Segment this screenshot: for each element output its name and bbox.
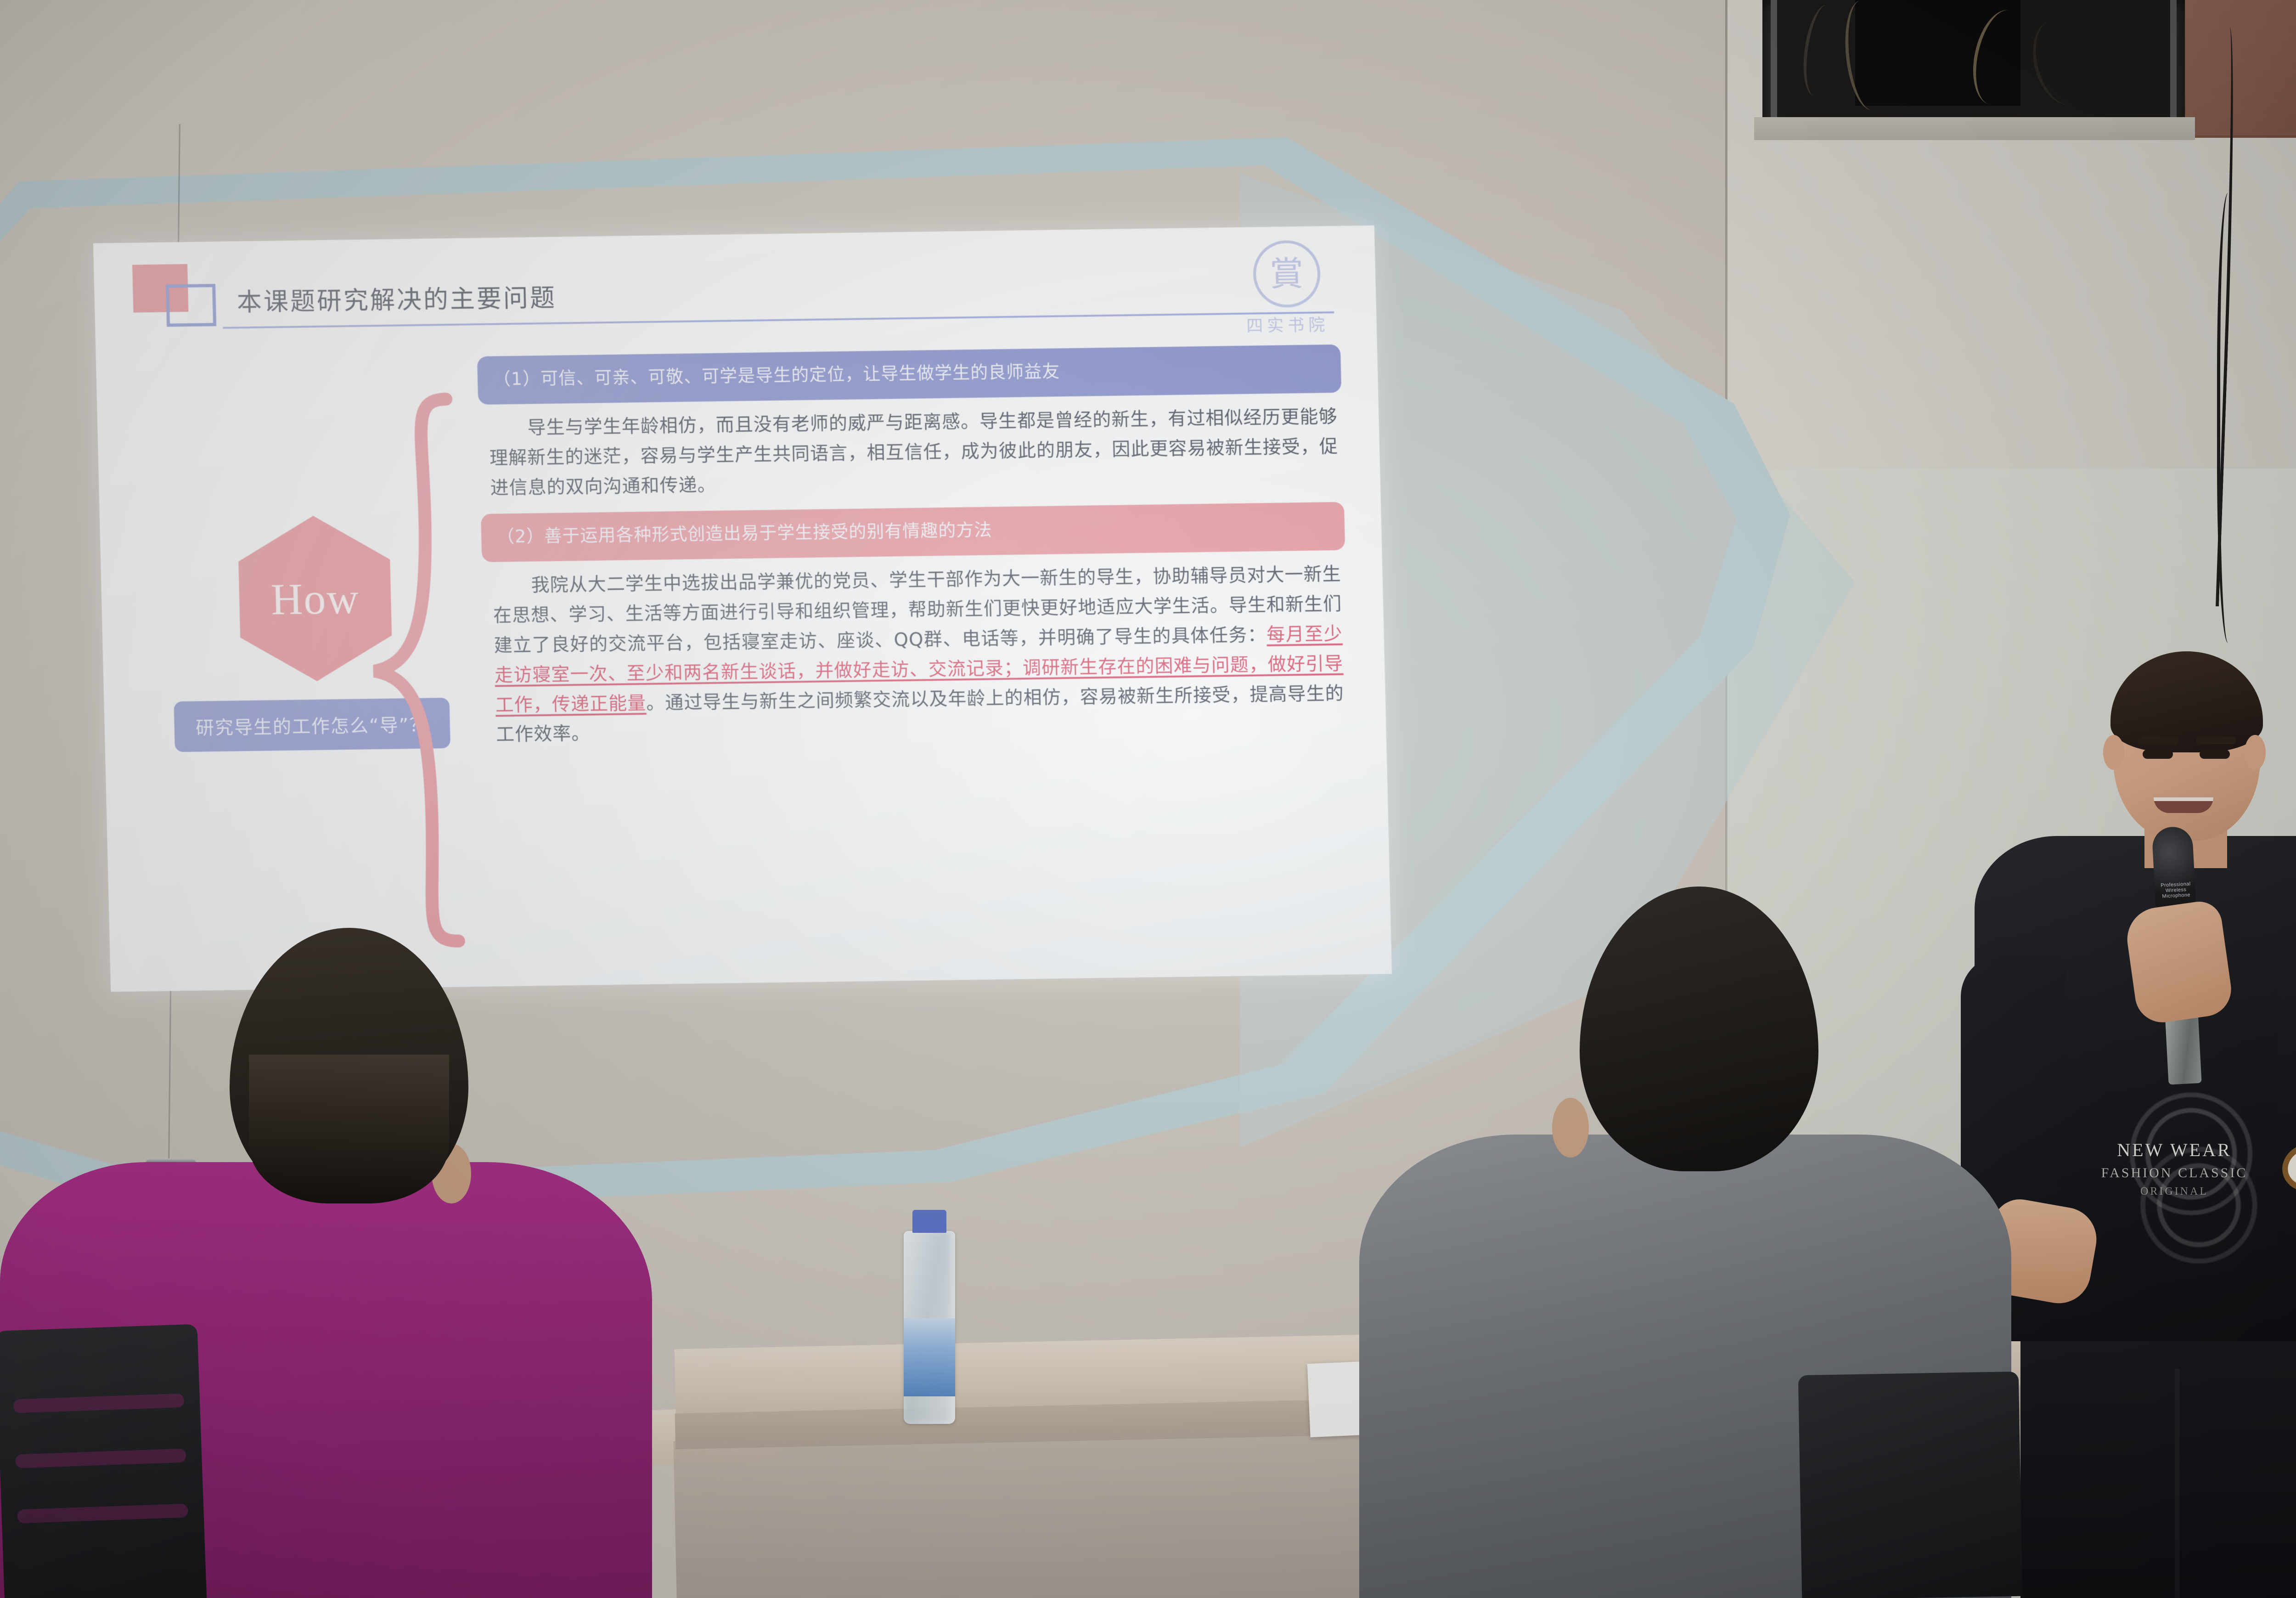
- presenter-eyebrow: [2196, 737, 2236, 744]
- attendee-right-chair: [1798, 1372, 2022, 1598]
- attendee-right-ear: [1552, 1098, 1589, 1158]
- brick-panel-face: [2186, 0, 2296, 136]
- presenter-legs: [2020, 1314, 2296, 1598]
- ceiling-utility-box: [1762, 0, 2185, 133]
- logo-seal-icon: 賞: [1252, 240, 1321, 308]
- attendee-left-chair: [0, 1324, 207, 1598]
- block-1-paragraph: 导生与学生年龄相仿，而且没有老师的威严与距离感。导生都是曾经的新生，有过相似经历…: [478, 393, 1344, 505]
- presenter-ear: [2245, 735, 2266, 770]
- bottle-label: [904, 1318, 955, 1396]
- how-hexagon-label: How: [270, 572, 360, 625]
- block-2-text-lead: 我院从大二学生中选拔出品学兼优的党员、学生干部作为大一新生的导生，协助辅导员对大…: [493, 564, 1342, 656]
- water-bottle: [904, 1231, 955, 1424]
- microphone-label: Professional Wireless Microphone: [2156, 881, 2196, 899]
- block-1-text: 导生与学生年龄相仿，而且没有老师的威严与距离感。导生都是曾经的新生，有过相似经历…: [490, 406, 1339, 498]
- slide-content-column: （1）可信、可亲、可敬、可学是导生的定位，让导生做学生的良师益友 导生与学生年龄…: [477, 344, 1350, 752]
- attendee-right: [1359, 887, 2057, 1598]
- presenter-eye: [2200, 750, 2230, 759]
- block-2-paragraph: 我院从大二学生中选拔出品学兼优的党员、学生干部作为大一新生的导生，协助辅导员对大…: [482, 550, 1350, 752]
- presenter-hand-holding-mic: [2123, 899, 2235, 1026]
- cable-icon: [2025, 13, 2099, 111]
- academy-logo: 賞 四实书院: [1236, 238, 1337, 338]
- tshirt-text: NEW WEAR FASHION CLASSIC ORIGINAL: [2076, 1139, 2273, 1198]
- ceiling-box-lip: [1754, 117, 2195, 140]
- chair-slot: [13, 1394, 185, 1413]
- tshirt-line-1: NEW WEAR: [2076, 1139, 2273, 1161]
- attendee-left-head: [230, 928, 468, 1203]
- projected-slide: 本课题研究解决的主要问题 賞 四实书院 How 研究导生的工作怎么“导”？ （1…: [93, 226, 1392, 992]
- chair-slot: [17, 1503, 188, 1523]
- chair-slot: [15, 1449, 186, 1468]
- attendee-left: [0, 928, 716, 1598]
- presenter-eyebrow: [2138, 737, 2178, 744]
- presenter-mouth: [2154, 797, 2213, 813]
- bottle-cap: [912, 1210, 946, 1233]
- photo-scene: 本课题研究解决的主要问题 賞 四实书院 How 研究导生的工作怎么“导”？ （1…: [0, 0, 2296, 1598]
- tshirt-line-3: ORIGINAL: [2076, 1186, 2273, 1198]
- cable-icon: [1798, 3, 1843, 98]
- pink-curly-brace: [354, 390, 468, 952]
- logo-name: 四实书院: [1246, 311, 1329, 336]
- attendee-right-head: [1580, 887, 1818, 1171]
- presenter-hair: [2110, 651, 2263, 752]
- presenter-ear: [2103, 735, 2124, 770]
- presenter-eye: [2143, 750, 2173, 759]
- slide-title: 本课题研究解决的主要问题: [236, 277, 557, 318]
- tshirt-line-2: FASHION CLASSIC: [2076, 1165, 2273, 1181]
- header-blue-outline-square: [166, 284, 216, 327]
- utility-box-frame: [1771, 0, 2177, 125]
